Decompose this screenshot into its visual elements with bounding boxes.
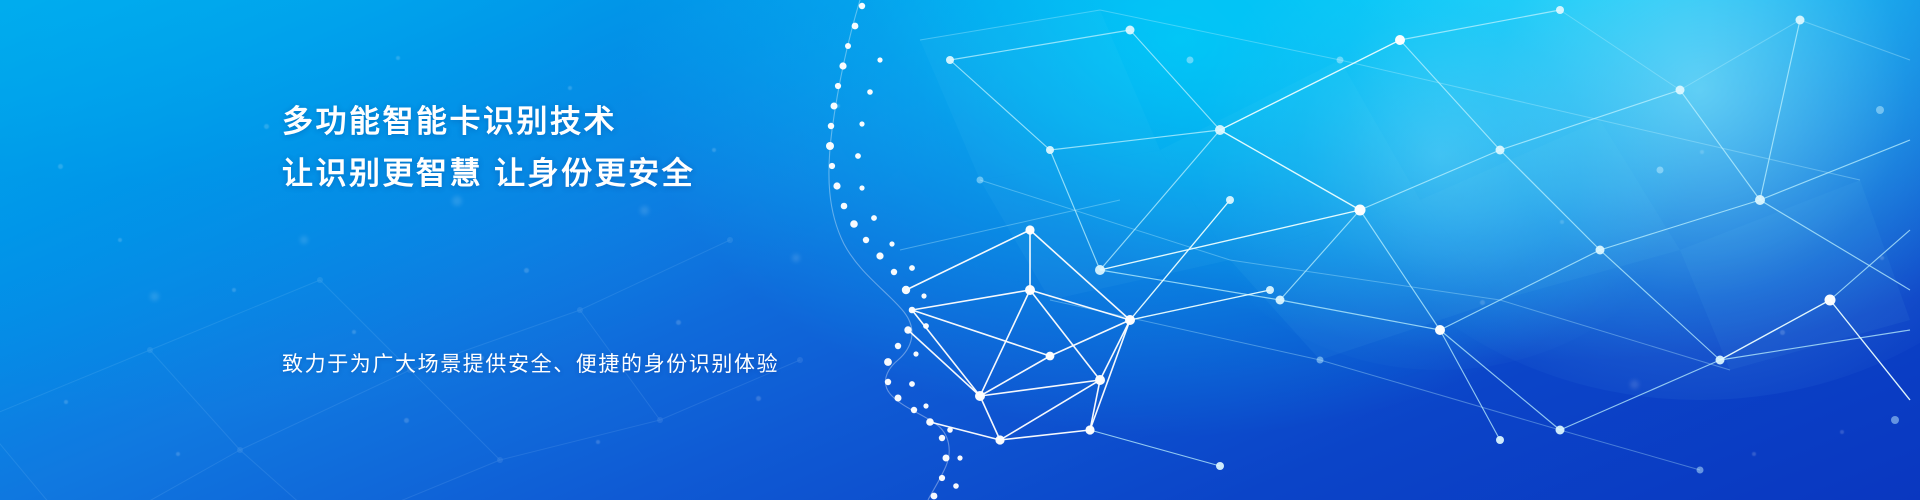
headline-block: 多功能智能卡识别技术 让识别更智慧 让身份更安全 <box>282 96 1042 200</box>
glow-top-right <box>1320 0 1920 400</box>
hero-banner: 多功能智能卡识别技术 让识别更智慧 让身份更安全 致力于为广大场景提供安全、便捷… <box>0 0 1920 500</box>
face-profile-dots <box>826 3 963 500</box>
particle-field <box>0 0 1920 500</box>
headline-line-1: 多功能智能卡识别技术 <box>282 96 1042 148</box>
glow-center <box>1180 0 1700 370</box>
face-network-graphic <box>800 0 1920 500</box>
banner-subtitle: 致力于为广大场景提供安全、便捷的身份识别体验 <box>282 348 779 378</box>
headline-line-2: 让识别更智慧 让身份更安全 <box>282 148 1042 200</box>
face-feature-mesh <box>906 200 1270 466</box>
